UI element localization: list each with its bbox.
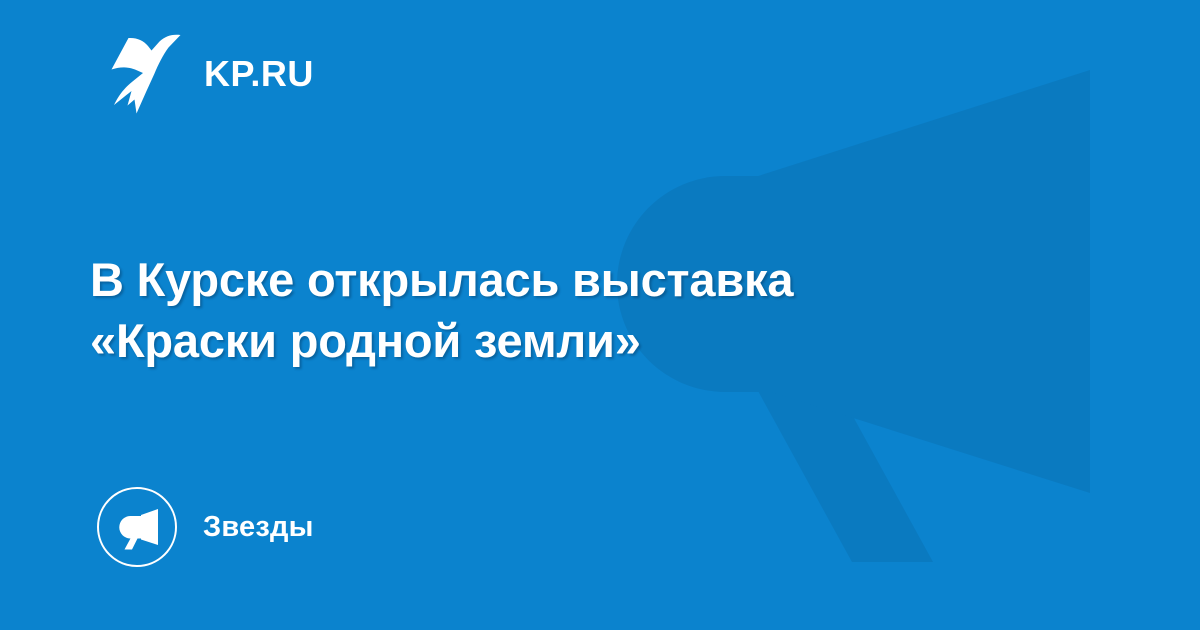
headline-line-2: «Краски родной земли» [90,311,1050,372]
swallow-bird-icon [110,33,182,115]
brand-name: KP.RU [204,56,314,92]
social-share-card: KP.RU В Курске открылась выставка «Краск… [0,0,1200,630]
headline-line-1: В Курске открылась выставка [90,250,1050,311]
brand-header[interactable]: KP.RU [110,33,314,115]
category-badge[interactable]: Звезды [97,487,314,567]
category-icon-circle [97,487,177,567]
category-label: Звезды [203,513,314,542]
page-title: В Курске открылась выставка «Краски родн… [90,250,1050,371]
megaphone-icon [117,508,161,550]
